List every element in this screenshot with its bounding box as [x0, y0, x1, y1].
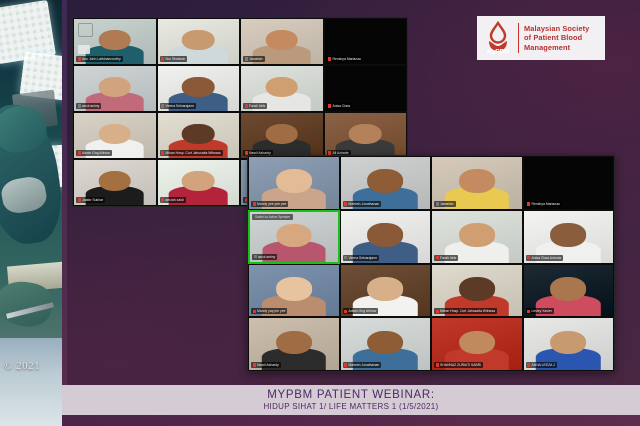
participant-face [459, 331, 495, 355]
participant-face [265, 124, 298, 145]
participant-tile[interactable]: Nur Shakirah [157, 18, 241, 65]
logo-line-2: of Patient Blood [524, 33, 589, 42]
logo-line-3: Management [524, 43, 589, 52]
participant-name-label: Farah Idris [434, 255, 458, 261]
participant-face [459, 223, 495, 247]
participant-name-label: Miiran Hosp. Cort Jahusaita Witnasa [434, 308, 497, 314]
banner-subtitle: HIDUP SIHAT 1/ LIFE MATTERS 1 (1/5/2021) [263, 402, 438, 412]
participant-tile[interactable]: Mahesh Jonathanan [340, 156, 432, 210]
participant-name-label: Mandy yee yee yee [251, 201, 288, 207]
participant-name-label: ANNA LEEZA J [526, 362, 557, 368]
participant-name-label: Miiran Hosp. Cort Jahusaita Witnasa [160, 150, 223, 156]
webinar-banner: MYPBM PATIENT WEBINAR: HIDUP SIHAT 1/ LI… [62, 385, 640, 415]
participant-face [276, 224, 311, 247]
participant-face [276, 331, 312, 355]
participant-tile[interactable]: Jamaliah [431, 156, 523, 210]
participant-tile[interactable]: Adwin Ong Ahhow [340, 264, 432, 318]
participant-name-label: Veena Selvarajann [160, 103, 196, 109]
participant-tile[interactable]: Adwin Ong Ahhow [73, 112, 157, 159]
webinar-screenshot: © 2021 MyPBM Malaysian Society of Patien… [0, 0, 640, 426]
participant-name-label: Farah Idris [243, 103, 267, 109]
participant-tile[interactable]: Switch to Active Speakerasrul aminy [248, 210, 340, 264]
self-view-icon [78, 23, 93, 37]
participant-name-label: Lesley Xavier [526, 308, 554, 314]
strip-divider [62, 0, 67, 426]
participant-name-label: Nur Shakirah [160, 56, 188, 62]
participant-tile[interactable]: ANNA LEEZA J [523, 317, 615, 371]
logo-divider [518, 23, 519, 53]
participant-tile[interactable]: Anu John Lathinamoorthy [73, 18, 157, 65]
participant-face [182, 124, 215, 145]
participant-tile[interactable]: Farah Idris [240, 65, 324, 112]
mypbm-logo: MyPBM Malaysian Society of Patient Blood… [477, 16, 605, 60]
participant-face [276, 277, 312, 301]
participant-name-label: Adwin Ong Ahhow [76, 150, 112, 156]
participant-face [550, 331, 586, 355]
participant-name-label: Renshya Marianau [327, 56, 363, 62]
participant-face [349, 124, 382, 145]
participant-tile[interactable]: Jaafar Sukhar [73, 159, 157, 206]
participant-name-label: Jaafar Sukhar [76, 197, 105, 203]
switch-to-active-speaker-label[interactable]: Switch to Active Speaker [252, 214, 293, 221]
participant-tile[interactable]: Jamaliah [240, 18, 324, 65]
participant-face [367, 331, 403, 355]
participant-tile[interactable]: Anisa Clara Antonia [523, 210, 615, 264]
participant-face [98, 30, 131, 51]
logo-line-1: Malaysian Society [524, 24, 589, 33]
participant-name-label: SHAHNAZ ZURIATI SABRI [434, 362, 483, 368]
participant-tile[interactable]: SHAHNAZ ZURIATI SABRI [431, 317, 523, 371]
participant-tile[interactable]: Farah Idris [431, 210, 523, 264]
participant-name-label: Jamaliah [243, 56, 265, 62]
participant-face [182, 30, 215, 51]
participant-face [182, 77, 215, 98]
participant-face [98, 171, 131, 192]
participant-face [550, 223, 586, 247]
participant-face [367, 223, 403, 247]
participant-tile[interactable]: Veena Selvarajann [340, 210, 432, 264]
participant-face [265, 30, 298, 51]
participant-name-label: Renshya Marianau [526, 201, 562, 207]
participant-tile[interactable]: Lesley Xavier [523, 264, 615, 318]
participant-tile[interactable]: Renshya Marianau [523, 156, 615, 210]
participant-name-label: asrul aminy [252, 254, 277, 260]
participant-name-label: asrul aminy [76, 103, 101, 109]
participant-tile[interactable]: Renshya Marianau [324, 18, 408, 65]
participant-name-label: Anisa Clara Antonia [526, 255, 564, 261]
participant-name-label: Anisa Clara [327, 103, 353, 109]
copyright-text: © 2021 [4, 360, 40, 372]
participant-tile[interactable]: Veena Selvarajann [157, 65, 241, 112]
participant-face [182, 171, 215, 192]
banner-bottom-strip [62, 415, 640, 426]
participant-tile[interactable]: Miiran Hosp. Cort Jahusaita Witnasa [431, 264, 523, 318]
participant-name-label: Veena Selvarajann [343, 255, 379, 261]
participant-tile[interactable]: Mandy yee yee yee [248, 156, 340, 210]
surgical-photo-strip: © 2021 [0, 0, 62, 426]
participant-face [459, 169, 495, 193]
participant-tile[interactable]: Mandy yap jee yee [248, 264, 340, 318]
secondary-participant-grid[interactable]: Mandy yee yee yeeMahesh JonathananJamali… [247, 155, 615, 372]
participant-tile[interactable]: Ali Azharie [324, 112, 408, 159]
participant-face [276, 169, 312, 193]
participant-tile[interactable]: amzah zaidi [157, 159, 241, 206]
participant-face [98, 77, 131, 98]
participant-tile[interactable]: Nasril Ashardy [240, 112, 324, 159]
surgical-drape [0, 338, 62, 426]
banner-title: MYPBM PATIENT WEBINAR: [267, 389, 434, 402]
participant-name-label: Mandy yap jee yee [251, 308, 287, 314]
participant-tile[interactable]: Mahesh Jonathanan [340, 317, 432, 371]
participant-tile[interactable]: Nasril Ashardy [248, 317, 340, 371]
participant-face [367, 277, 403, 301]
participant-name-label: Anu John Lathinamoorthy [76, 56, 123, 62]
svg-text:MyPBM: MyPBM [487, 48, 509, 55]
participant-face [98, 124, 131, 145]
participant-face [550, 277, 586, 301]
participant-name-label: Adwin Ong Ahhow [343, 308, 379, 314]
logo-text: Malaysian Society of Patient Blood Manag… [524, 24, 589, 52]
participant-name-label: Mahesh Jonathanan [343, 201, 382, 207]
participant-tile[interactable]: Anisa Clara [324, 65, 408, 112]
participant-face [459, 277, 495, 301]
participant-name-label: Nasril Ashardy [251, 362, 281, 368]
blood-drop-icon: MyPBM [483, 21, 513, 55]
participant-name-label: Jamaliah [434, 201, 456, 207]
participant-face [367, 169, 403, 193]
screen-share-icon [78, 45, 90, 54]
participant-name-label: amzah zaidi [160, 197, 186, 203]
participant-name-label: Mahesh Jonathanan [343, 362, 382, 368]
participant-tile[interactable]: Miiran Hosp. Cort Jahusaita Witnasa [157, 112, 241, 159]
participant-face [265, 77, 298, 98]
participant-tile[interactable]: asrul aminy [73, 65, 157, 112]
